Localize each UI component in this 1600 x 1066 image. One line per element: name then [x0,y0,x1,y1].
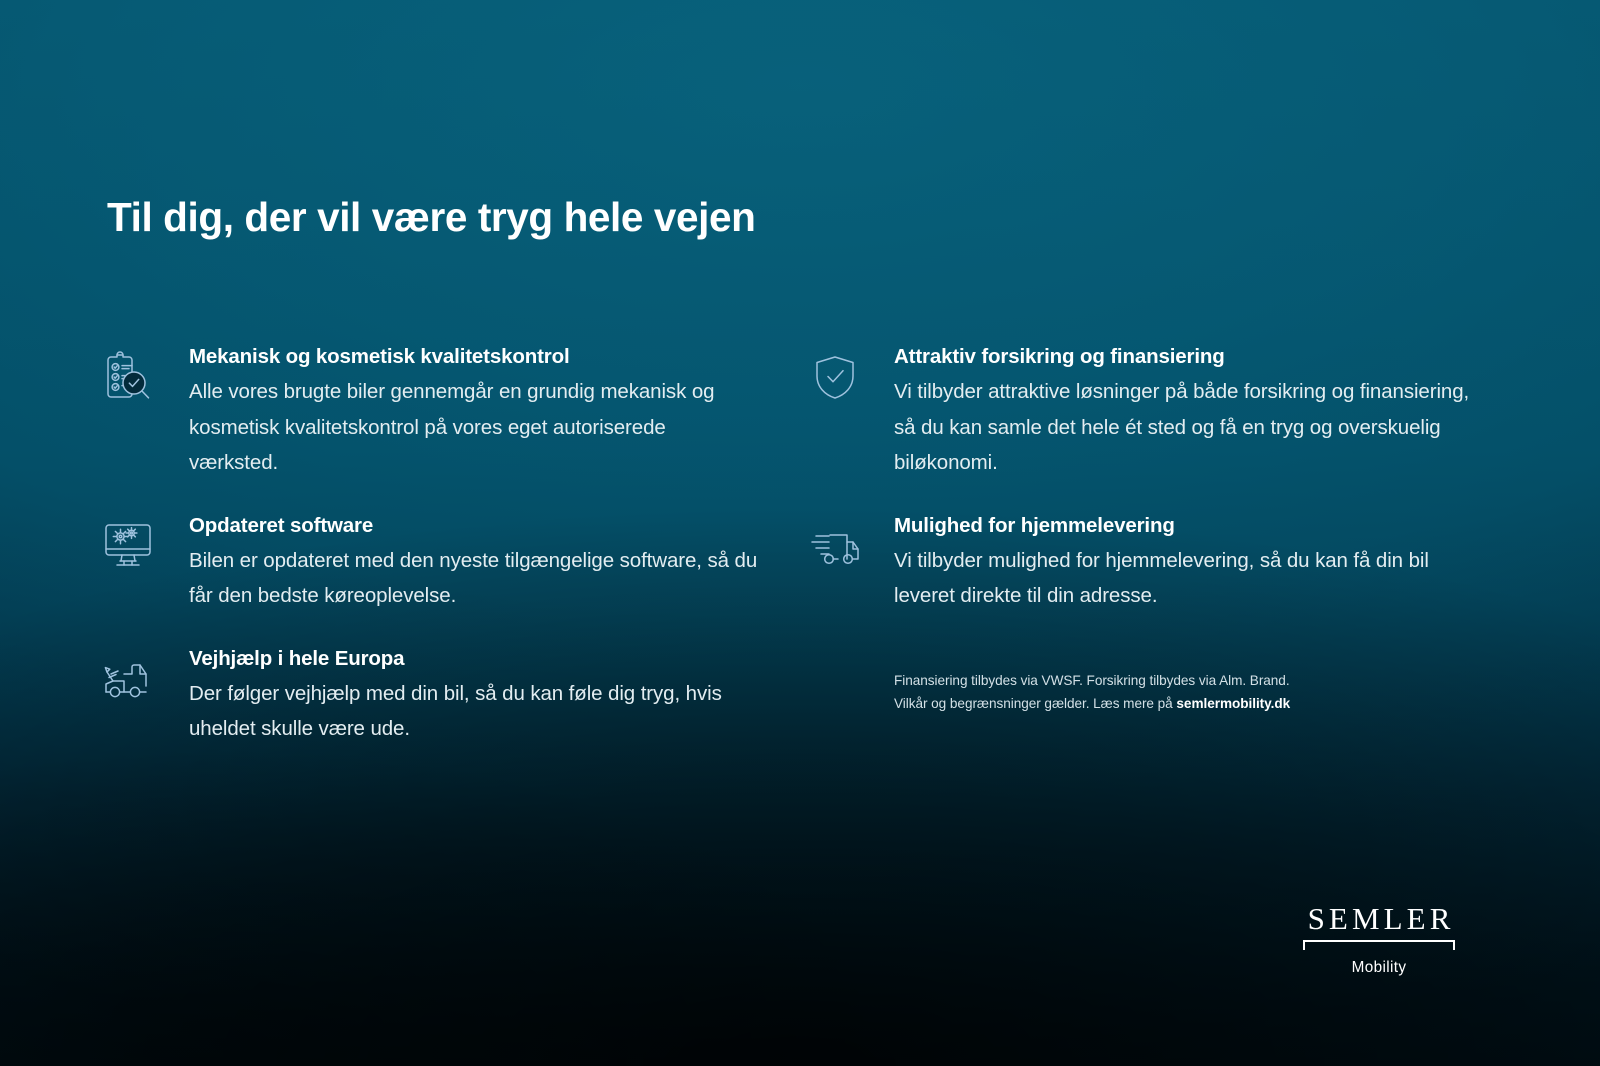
monitor-gears-icon [100,519,156,571]
feature-item-forsikring: Attraktiv forsikring og finansiering Vi … [803,345,1483,481]
legal-disclaimer: Finansiering tilbydes via VWSF. Forsikri… [894,670,1414,715]
feature-body: Vi tilbyder mulighed for hjemmelevering,… [894,543,1483,614]
feature-body: Der følger vejhjælp med din bil, så du k… [189,676,760,747]
logo-divider-rule [1303,940,1455,950]
clipboard-checklist-magnifier-icon [100,350,156,402]
feature-title: Opdateret software [189,514,760,538]
page-title: Til dig, der vil være tryg hele vejen [107,194,755,241]
feature-column-left: Mekanisk og kosmetisk kvalitetskontrol A… [100,345,760,780]
feature-item-hjemmelevering: Mulighed for hjemmelevering Vi tilbyder … [803,514,1483,614]
semler-mobility-logo: SEMLER Mobility [1303,900,1455,977]
shield-check-icon [807,351,863,403]
disclaimer-line-2: Vilkår og begrænsninger gælder. Læs mere… [894,693,1414,716]
feature-body: Alle vores brugte biler gennemgår en gru… [189,374,760,481]
logo-wordmark: SEMLER [1303,900,1455,937]
feature-title: Attraktiv forsikring og finansiering [894,345,1483,369]
feature-body: Bilen er opdateret med den nyeste tilgæn… [189,543,760,614]
feature-item-opdateret-software: Opdateret software Bilen er opdateret me… [100,514,760,614]
delivery-truck-icon [807,520,863,572]
logo-rule-tick-right [1453,940,1455,950]
semlermobility-link[interactable]: semlermobility.dk [1176,696,1290,711]
logo-subtitle: Mobility [1303,959,1455,977]
promo-panel: Til dig, der vil være tryg hele vejen [0,0,1600,1066]
feature-title: Mulighed for hjemmelevering [894,514,1483,538]
feature-item-kvalitetskontrol: Mekanisk og kosmetisk kvalitetskontrol A… [100,345,760,481]
tow-truck-icon [100,652,156,704]
feature-body: Vi tilbyder attraktive løsninger på både… [894,374,1483,481]
feature-column-right: Attraktiv forsikring og finansiering Vi … [803,345,1483,647]
feature-item-vejhjaelp: Vejhjælp i hele Europa Der følger vejhjæ… [100,647,760,747]
disclaimer-line-1: Finansiering tilbydes via VWSF. Forsikri… [894,670,1414,693]
feature-title: Mekanisk og kosmetisk kvalitetskontrol [189,345,760,369]
disclaimer-line-2-text: Vilkår og begrænsninger gælder. Læs mere… [894,696,1176,711]
feature-title: Vejhjælp i hele Europa [189,647,760,671]
